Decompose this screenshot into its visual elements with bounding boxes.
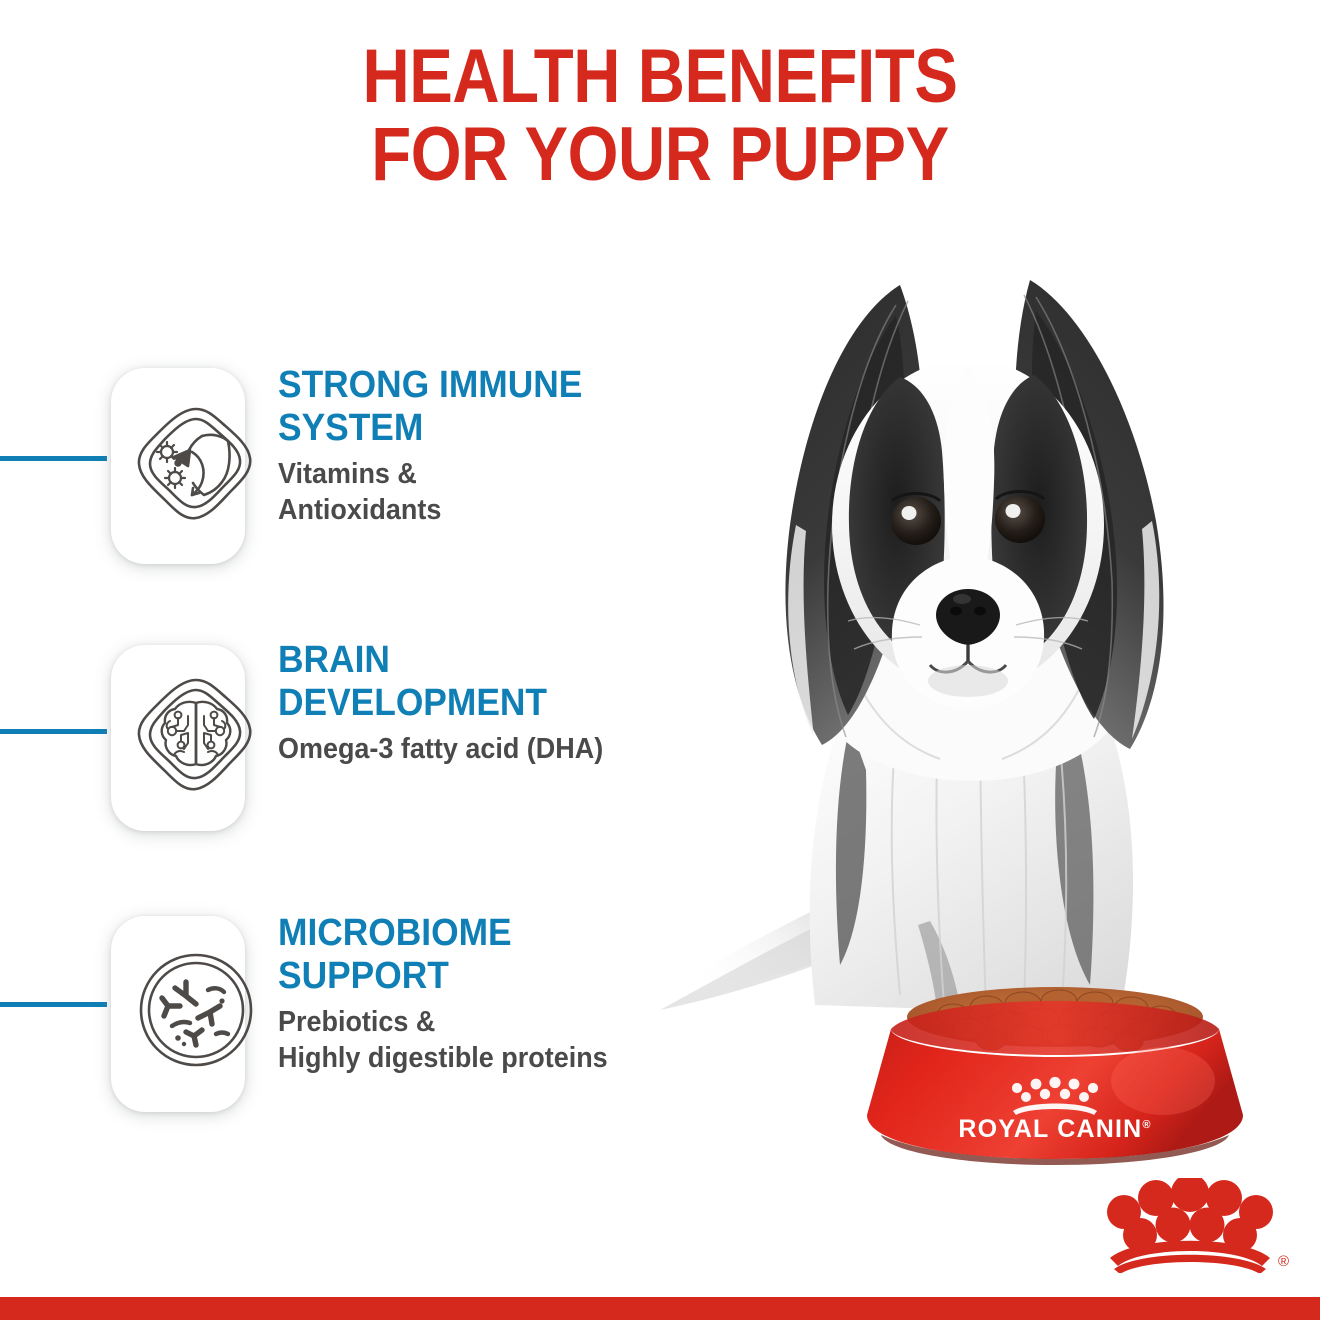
dog-food-bowl: ROYAL CANIN® <box>845 985 1265 1170</box>
royal-canin-crown-logo: ® <box>1090 1178 1290 1273</box>
connector-line-microbiome <box>0 1002 107 1007</box>
bowl-brand-text: ROYAL CANIN® <box>958 1115 1151 1143</box>
connector-line-immune <box>0 456 107 461</box>
health-benefits-infographic: HEALTH BENEFITS FOR YOUR PUPPY <box>0 0 1320 1320</box>
page-title: HEALTH BENEFITS FOR YOUR PUPPY <box>92 38 1227 195</box>
registered-mark: ® <box>1278 1253 1289 1270</box>
page-title-line-1: HEALTH BENEFITS <box>92 38 1227 116</box>
papillon-puppy-photo <box>600 225 1300 1055</box>
connector-line-brain <box>0 729 107 734</box>
brain-icon <box>132 671 260 799</box>
microbiome-petri-dish-icon <box>132 946 260 1074</box>
page-title-line-2: FOR YOUR PUPPY <box>92 116 1227 194</box>
bottom-red-bar <box>0 1297 1320 1320</box>
immune-shield-icon <box>132 400 260 528</box>
